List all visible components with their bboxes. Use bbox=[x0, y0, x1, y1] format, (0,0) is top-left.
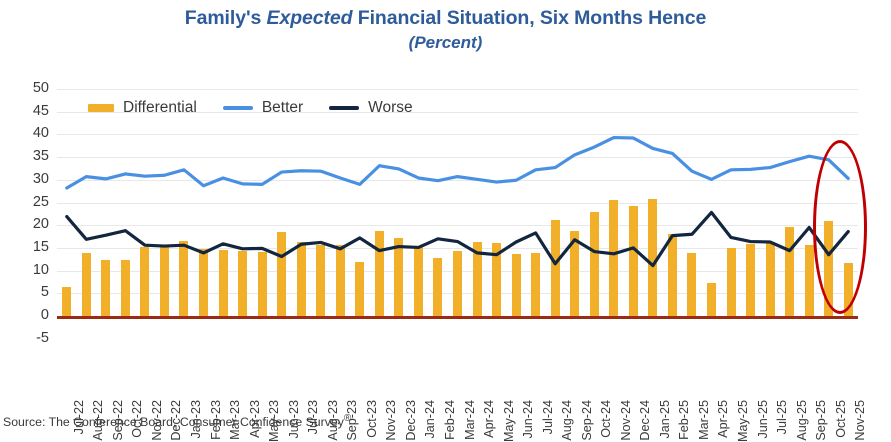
x-axis-tick-label: Nov-24 bbox=[619, 400, 633, 441]
x-axis-tick-label: Apr-25 bbox=[716, 400, 730, 438]
registered-mark: ® bbox=[344, 413, 351, 424]
x-axis-tick-label: Sep-25 bbox=[814, 400, 828, 441]
y-axis-tick-label: 35 bbox=[5, 149, 49, 163]
x-axis-tick-label: Jun-25 bbox=[756, 400, 770, 439]
zero-baseline bbox=[57, 316, 858, 319]
y-axis-tick-label: 45 bbox=[5, 104, 49, 118]
x-axis-tick-label: Nov-25 bbox=[853, 400, 867, 441]
y-axis-tick-label: -5 bbox=[5, 331, 49, 345]
x-axis-tick-label: Dec-24 bbox=[638, 400, 652, 441]
chart-container: Family's Expected Financial Situation, S… bbox=[0, 0, 891, 432]
lines-layer bbox=[57, 89, 858, 316]
x-axis-tick-label: Oct-24 bbox=[599, 400, 613, 438]
x-axis-tick-label: Feb-25 bbox=[677, 400, 691, 440]
y-axis-tick-label: 50 bbox=[5, 81, 49, 95]
title-part-a: Family's bbox=[185, 7, 267, 29]
title-part-b: Financial Situation, Six Months Hence bbox=[352, 7, 706, 29]
y-axis-tick-label: 5 bbox=[5, 285, 49, 299]
chart-subtitle: (Percent) bbox=[0, 31, 891, 54]
x-axis-tick-label: Jun-24 bbox=[521, 400, 535, 439]
x-axis-tick-label: May-24 bbox=[502, 400, 516, 442]
x-axis-tick-label: Oct-23 bbox=[365, 400, 379, 438]
chart-title-block: Family's Expected Financial Situation, S… bbox=[0, 6, 891, 54]
line-series-better bbox=[67, 138, 848, 188]
x-axis-tick-label: Mar-24 bbox=[463, 400, 477, 440]
x-axis-tick-label: Nov-23 bbox=[384, 400, 398, 441]
x-axis-labels: Jul-22Aug-22Sep-22Oct-22Nov-22Dec-22Jan-… bbox=[57, 322, 858, 408]
title-part-italic: Expected bbox=[267, 7, 353, 29]
y-axis-tick-label: 30 bbox=[5, 172, 49, 186]
line-series-worse bbox=[67, 212, 848, 265]
x-axis-tick-label: Apr-24 bbox=[482, 400, 496, 438]
y-axis-tick-label: 40 bbox=[5, 126, 49, 140]
x-axis-tick-label: Oct-25 bbox=[834, 400, 848, 438]
plot-area bbox=[57, 89, 858, 316]
red-ellipse-highlight-icon bbox=[813, 140, 867, 314]
x-axis-tick-label: Jul-25 bbox=[775, 400, 789, 434]
y-axis-tick-label: 20 bbox=[5, 217, 49, 231]
x-axis-tick-label: Jan-25 bbox=[658, 400, 672, 439]
y-axis-tick-label: 25 bbox=[5, 195, 49, 209]
x-axis-tick-label: Dec-23 bbox=[404, 400, 418, 441]
x-axis-tick-label: Aug-25 bbox=[795, 400, 809, 441]
source-text: Source: The Conference Board, Consumer C… bbox=[3, 415, 344, 429]
x-axis-tick-label: Jan-24 bbox=[423, 400, 437, 439]
x-axis-tick-label: Sep-24 bbox=[580, 400, 594, 441]
x-axis-tick-label: Feb-24 bbox=[443, 400, 457, 440]
x-axis-tick-label: May-25 bbox=[736, 400, 750, 442]
x-axis-tick-label: Jul-24 bbox=[541, 400, 555, 434]
y-axis-tick-label: 0 bbox=[5, 308, 49, 322]
page-title: Family's Expected Financial Situation, S… bbox=[0, 6, 891, 31]
y-axis-tick-label: 10 bbox=[5, 263, 49, 277]
source-note: Source: The Conference Board, Consumer C… bbox=[3, 413, 351, 429]
x-axis-tick-label: Aug-24 bbox=[560, 400, 574, 441]
x-axis-tick-label: Mar-25 bbox=[697, 400, 711, 440]
y-axis-tick-label: 15 bbox=[5, 240, 49, 254]
